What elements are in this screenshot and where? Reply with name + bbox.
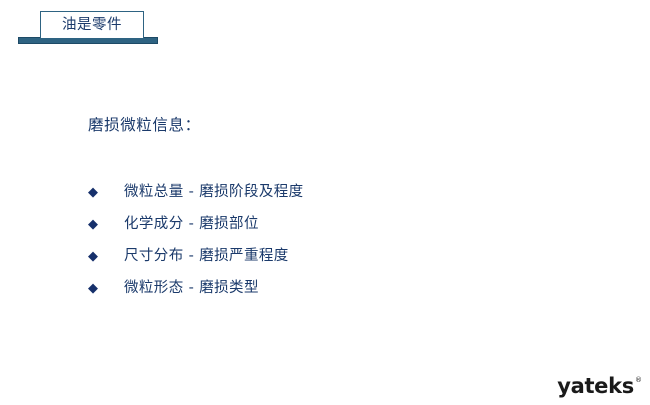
diamond-bullet-icon: ◆ (88, 186, 124, 199)
list-item: ◆ 尺寸分布 - 磨损严重程度 (88, 240, 304, 272)
list-item-label: 尺寸分布 - 磨损严重程度 (124, 249, 289, 264)
list-item-label: 微粒总量 - 磨损阶段及程度 (124, 185, 304, 200)
diamond-bullet-icon: ◆ (88, 250, 124, 263)
diamond-bullet-icon: ◆ (88, 282, 124, 295)
slide-canvas: 油是零件 磨损微粒信息： ◆ 微粒总量 - 磨损阶段及程度 ◆ 化学成分 - 磨… (0, 0, 650, 405)
yateks-logo: yateks ® (557, 376, 642, 397)
list-item: ◆ 化学成分 - 磨损部位 (88, 208, 304, 240)
list-item-label: 微粒形态 - 磨损类型 (124, 281, 259, 296)
list-item-label: 化学成分 - 磨损部位 (124, 217, 259, 232)
bullet-list: ◆ 微粒总量 - 磨损阶段及程度 ◆ 化学成分 - 磨损部位 ◆ 尺寸分布 - … (88, 176, 304, 304)
diamond-bullet-icon: ◆ (88, 218, 124, 231)
logo-wordmark: yateks (557, 376, 634, 397)
registered-trademark-icon: ® (635, 377, 642, 384)
content-heading: 磨损微粒信息： (88, 113, 201, 135)
slide-content: 磨损微粒信息： ◆ 微粒总量 - 磨损阶段及程度 ◆ 化学成分 - 磨损部位 ◆… (0, 0, 650, 405)
list-item: ◆ 微粒形态 - 磨损类型 (88, 272, 304, 304)
list-item: ◆ 微粒总量 - 磨损阶段及程度 (88, 176, 304, 208)
